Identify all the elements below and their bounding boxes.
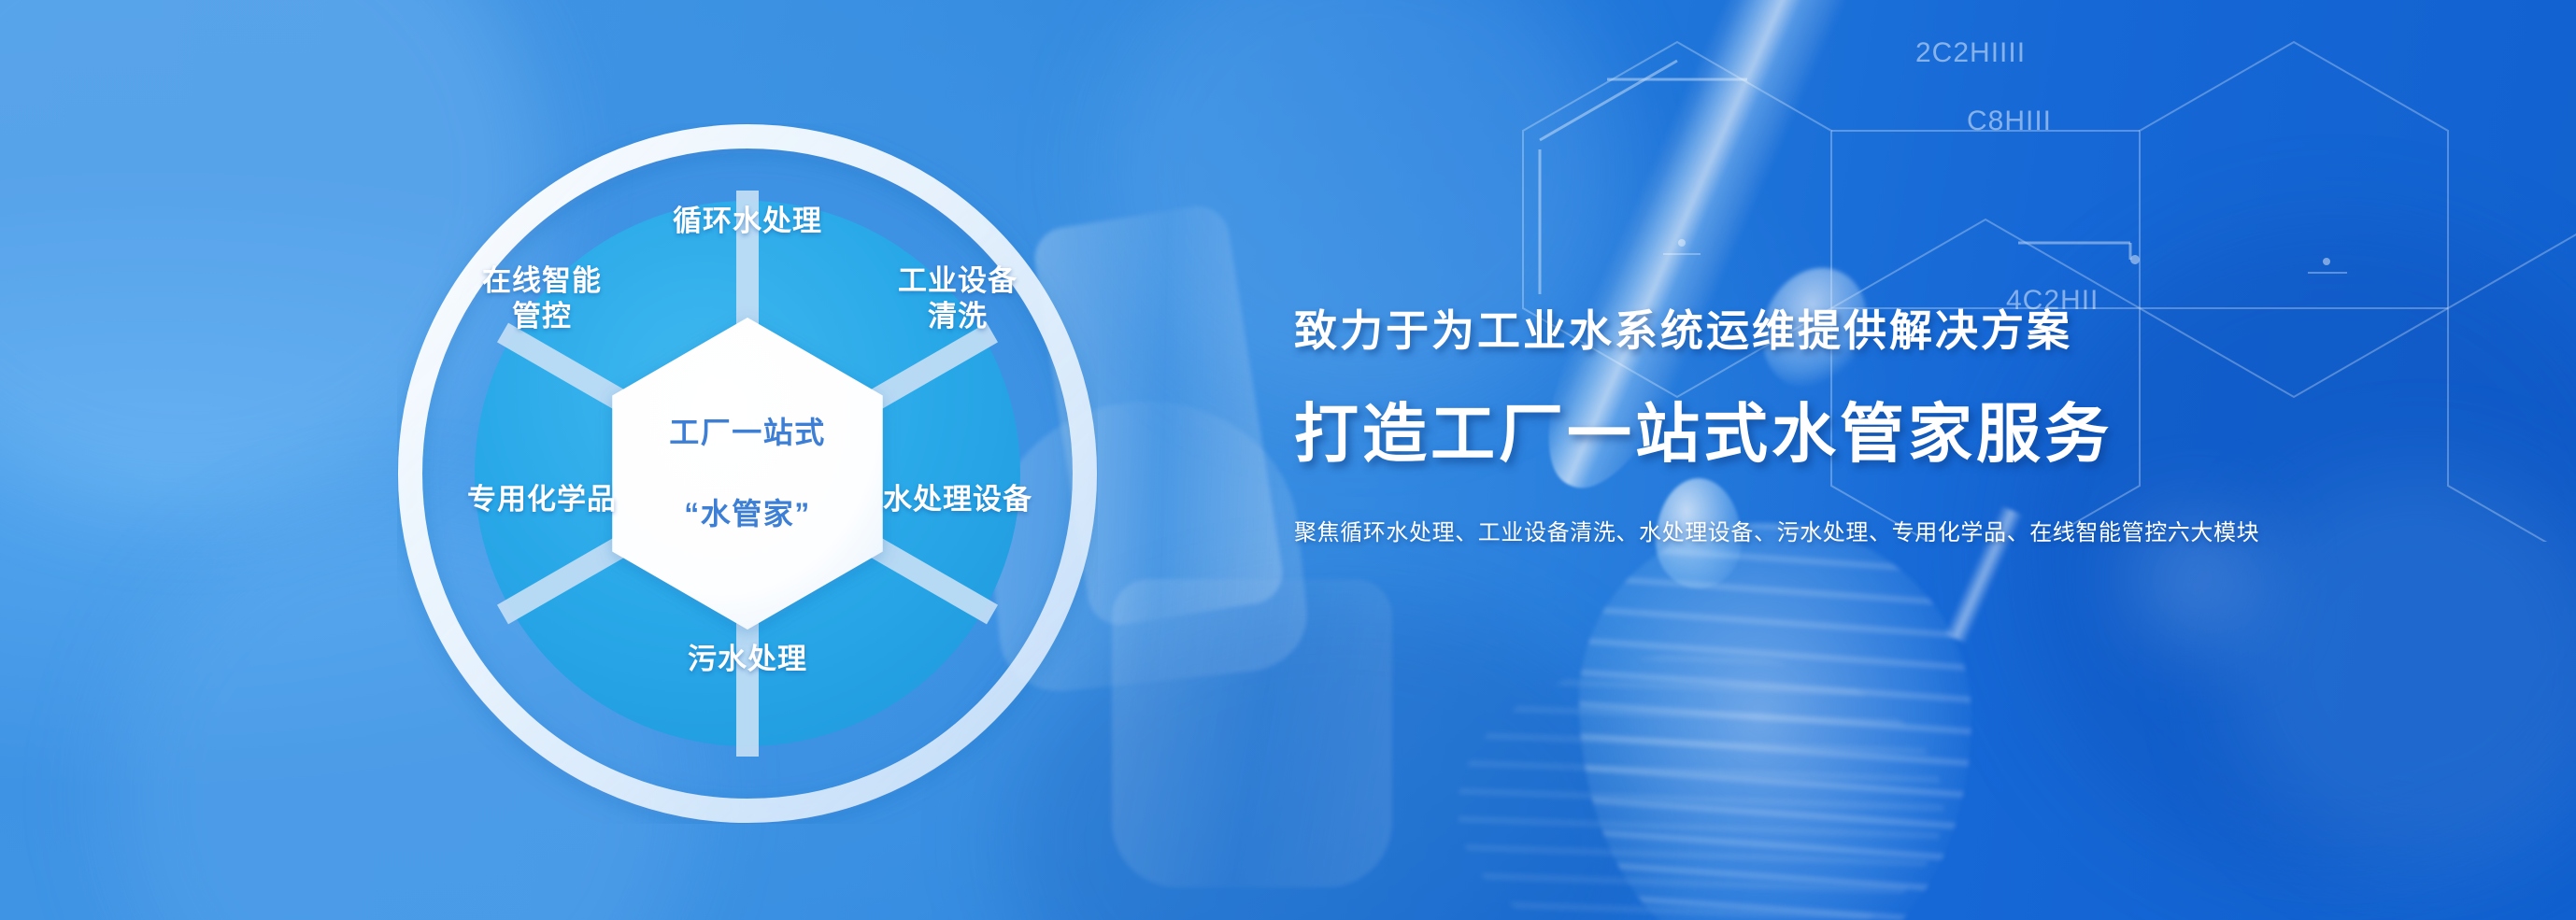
wheel-center-line-1: 工厂一站式 [669, 413, 826, 453]
wheel-segment-label-sewage-treatment[interactable]: 污水处理 [626, 642, 869, 677]
headline-block: 致力于为工业水系统运维提供解决方案 打造工厂一站式水管家服务 聚焦循环水处理、工… [1294, 297, 2415, 546]
water-bottle-graphic [1579, 523, 1971, 920]
headline-large: 打造工厂一站式水管家服务 [1294, 381, 2415, 474]
subcopy-text: 聚焦循环水处理、工业设备清洗、水处理设备、污水处理、专用化学品、在线智能管控六大… [1294, 514, 2415, 546]
wheel-segment-label-online-smart-control[interactable]: 在线智能 管控 [425, 263, 659, 334]
wheel-segment-label-circulating-water[interactable]: 循环水处理 [617, 204, 878, 239]
wheel-segment-label-equipment-cleaning[interactable]: 工业设备 清洗 [841, 263, 1075, 334]
banner-root: 2C2HIIII C8HIII 4C2HII [0, 0, 2576, 920]
headline-small: 致力于为工业水系统运维提供解决方案 [1294, 297, 2415, 359]
service-wheel-diagram: 循环水处理 工业设备 清洗 水处理设备 污水处理 专用化学品 在线智能 管控 工… [397, 123, 1098, 824]
wheel-center-line-2: “水管家” [669, 494, 826, 534]
formula-label: C8HIII [1967, 106, 2052, 137]
wheel-center-label: 工厂一站式 “水管家” [669, 373, 826, 574]
formula-label: 2C2HIIII [1915, 37, 2026, 69]
wheel-segment-label-water-treatment-equipment[interactable]: 水处理设备 [822, 482, 1093, 517]
wheel-segment-label-specialty-chemicals[interactable]: 专用化学品 [406, 482, 677, 517]
shadow-bloom [1009, 598, 1663, 920]
water-ripple-graphic [1458, 654, 1943, 920]
glassware-silhouette [1112, 579, 1392, 887]
